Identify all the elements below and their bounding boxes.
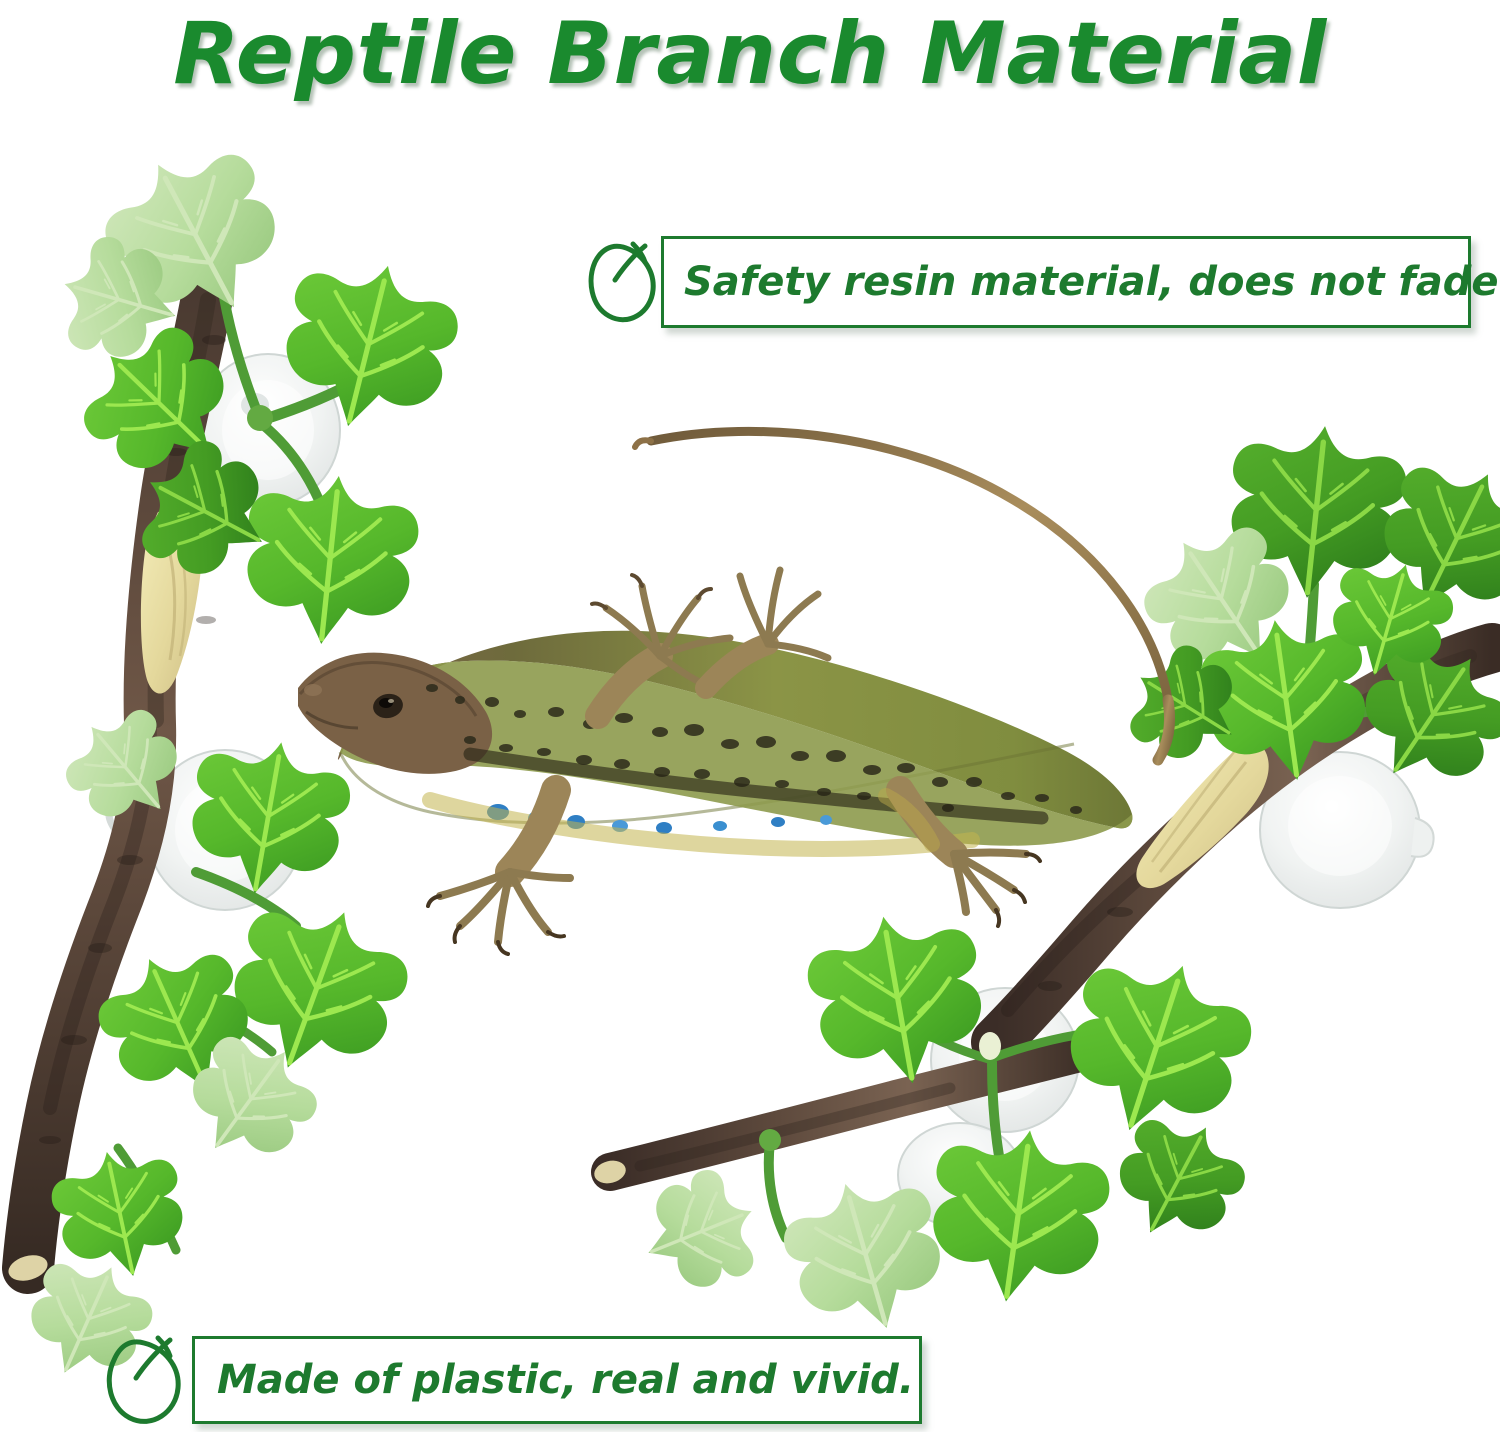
leaf-cluster-right xyxy=(1112,417,1500,812)
leaf-outline-icon xyxy=(100,1332,192,1428)
page-title: Reptile Branch Material xyxy=(0,4,1500,104)
callout-box: Safety resin material, does not fade. xyxy=(661,236,1471,328)
callout-box: Made of plastic, real and vivid. xyxy=(192,1336,922,1424)
feature-callout-material: Made of plastic, real and vivid. xyxy=(100,1332,922,1428)
callout-text: Safety resin material, does not fade. xyxy=(684,259,1500,305)
callout-text: Made of plastic, real and vivid. xyxy=(217,1357,914,1403)
product-image-canvas: Reptile Branch Material Safety resin mat… xyxy=(0,0,1500,1432)
lizard xyxy=(298,431,1170,954)
feature-callout-safety: Safety resin material, does not fade. xyxy=(583,236,1471,328)
scene-artwork xyxy=(0,0,1500,1432)
leaf-outline-icon xyxy=(583,236,661,328)
